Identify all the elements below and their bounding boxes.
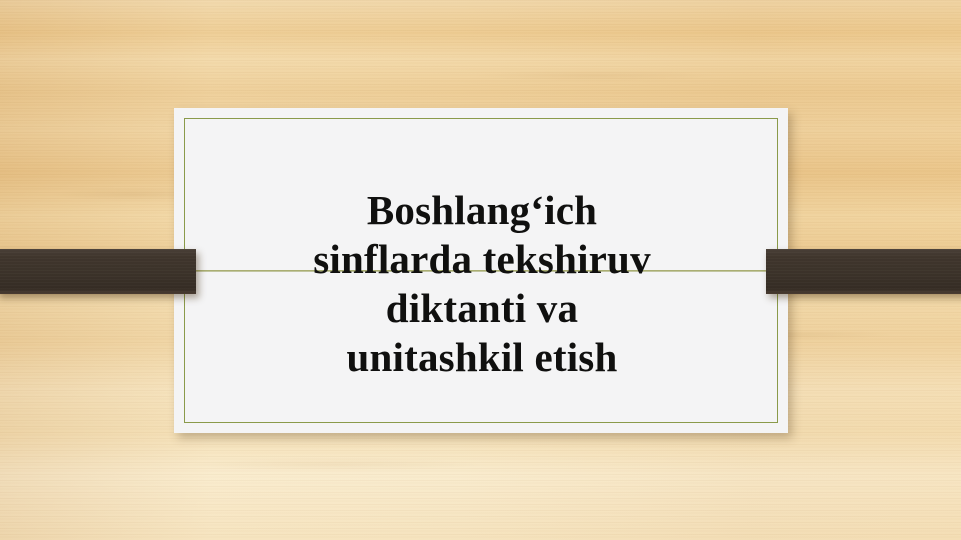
slide-canvas: Boshlangʻich sinflarda tekshiruv diktant… bbox=[0, 0, 961, 540]
slide-title: Boshlangʻich sinflarda tekshiruv diktant… bbox=[212, 186, 752, 382]
title-block: Boshlangʻich sinflarda tekshiruv diktant… bbox=[212, 186, 752, 382]
decorative-band-left bbox=[0, 249, 196, 294]
decorative-band-right bbox=[766, 249, 961, 294]
